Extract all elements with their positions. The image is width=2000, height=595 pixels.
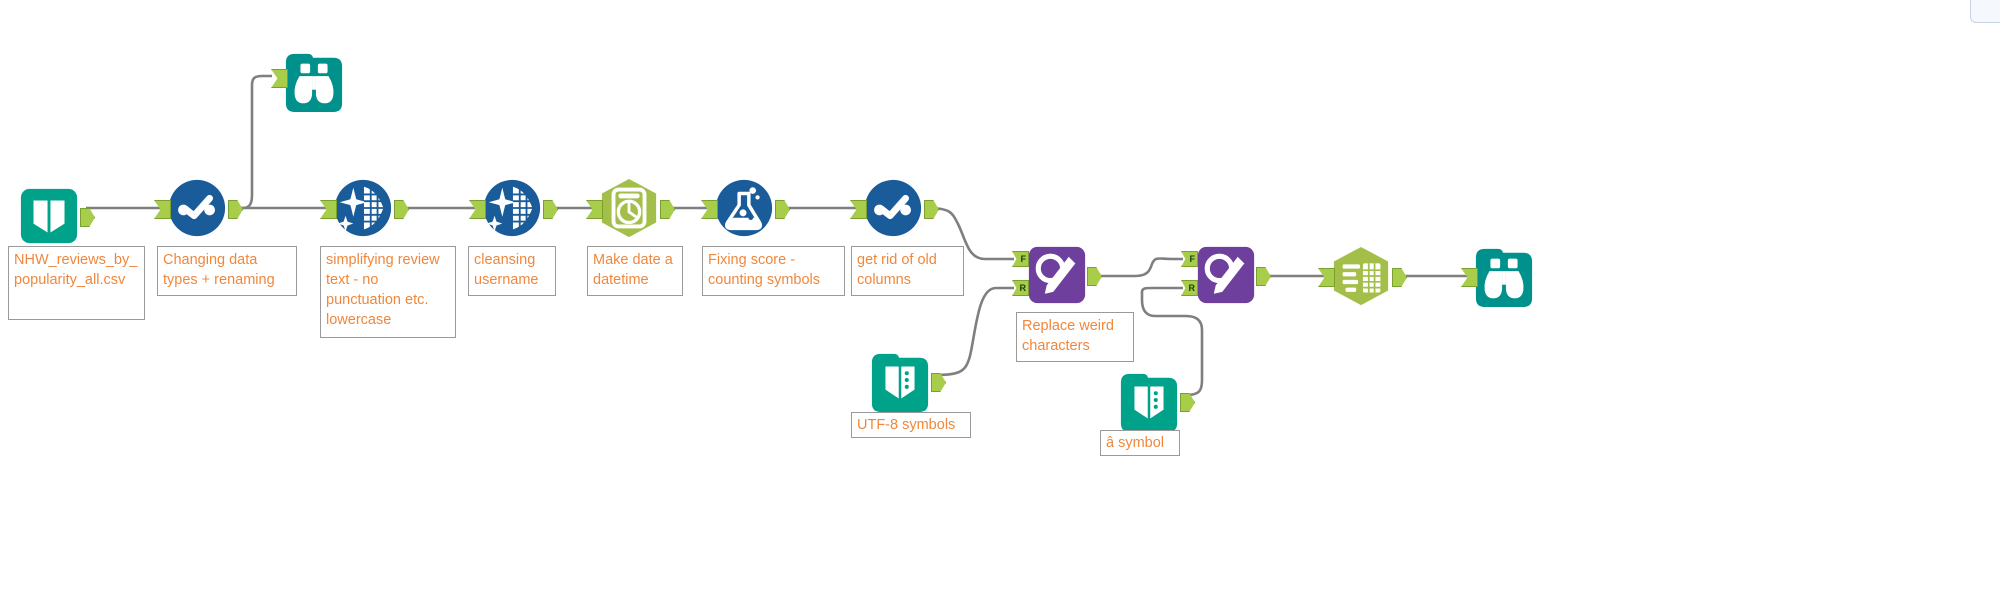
input-anchor[interactable] — [701, 200, 718, 219]
node-caption: Replace weird characters — [1016, 312, 1134, 362]
node-browse-top[interactable] — [283, 50, 345, 112]
node-select-records[interactable] — [1330, 245, 1392, 307]
workflow-canvas[interactable]: F R F R — [0, 0, 2000, 595]
output-anchor[interactable] — [228, 200, 243, 219]
input-anchor-find[interactable]: F — [1012, 251, 1029, 267]
input-anchor[interactable] — [1461, 268, 1478, 287]
output-anchor[interactable] — [775, 200, 790, 219]
output-anchor[interactable] — [660, 200, 675, 219]
input-anchor[interactable] — [1318, 268, 1335, 287]
node-caption: â symbol — [1100, 430, 1180, 456]
node-input-data[interactable] — [18, 185, 80, 247]
node-caption: Make date a datetime — [587, 246, 683, 296]
node-text-input-utf8[interactable] — [869, 350, 931, 412]
node-text-input-a-symbol[interactable] — [1118, 370, 1180, 432]
node-caption: Changing data types + renaming — [157, 246, 297, 296]
input-anchor[interactable] — [320, 200, 337, 219]
node-cleanse-review-text[interactable] — [332, 177, 394, 239]
binoculars-icon — [283, 50, 345, 112]
table-rows-icon — [1330, 245, 1392, 307]
check-dots-icon — [862, 177, 924, 239]
input-anchor[interactable] — [271, 69, 288, 88]
output-anchor[interactable] — [1392, 268, 1407, 287]
output-anchor[interactable] — [924, 200, 939, 219]
magnifier-pencil-icon — [1196, 245, 1256, 305]
input-anchor-find[interactable]: F — [1181, 251, 1198, 267]
clock-icon — [598, 177, 660, 239]
wire-select-to-browse-top — [231, 76, 272, 208]
magnifier-pencil-icon — [1027, 245, 1087, 305]
node-caption: cleansing username — [468, 246, 556, 296]
node-datetime[interactable] — [598, 177, 660, 239]
wire-utf8-to-findreplace1-r — [937, 288, 1014, 375]
output-anchor[interactable] — [1180, 393, 1195, 412]
check-dots-icon — [166, 177, 228, 239]
output-anchor[interactable] — [931, 373, 946, 392]
input-anchor[interactable] — [469, 200, 486, 219]
flask-icon — [713, 177, 775, 239]
node-caption: NHW_reviews_by_popularity_all.csv — [8, 246, 145, 320]
binoculars-icon — [1473, 245, 1535, 307]
node-select-changing-types[interactable] — [166, 177, 228, 239]
sparkle-grid-icon — [481, 177, 543, 239]
book-dots-icon — [1118, 370, 1180, 432]
open-book-icon — [18, 185, 80, 247]
book-dots-icon — [869, 350, 931, 412]
input-anchor-replace[interactable]: R — [1012, 280, 1029, 296]
output-anchor[interactable] — [1087, 267, 1102, 286]
output-anchor[interactable] — [543, 200, 558, 219]
node-browse-end[interactable] — [1473, 245, 1535, 307]
output-anchor[interactable] — [80, 208, 95, 227]
node-find-replace-2[interactable]: F R — [1196, 245, 1256, 305]
output-anchor[interactable] — [1256, 267, 1271, 286]
node-cleanse-username[interactable] — [481, 177, 543, 239]
node-select-get-rid[interactable] — [862, 177, 924, 239]
node-formula-fixing-score[interactable] — [713, 177, 775, 239]
node-find-replace-1[interactable]: F R — [1027, 245, 1087, 305]
wire-findreplace1-to-findreplace2-f — [1099, 258, 1183, 276]
node-caption: UTF-8 symbols — [851, 412, 971, 438]
node-caption: Fixing score - counting symbols — [702, 246, 845, 296]
window-corner — [1970, 0, 2000, 23]
node-caption: get rid of old columns — [851, 246, 964, 296]
node-caption: simplifying review text - no punctuation… — [320, 246, 456, 338]
input-anchor[interactable] — [154, 200, 171, 219]
input-anchor[interactable] — [586, 200, 603, 219]
input-anchor[interactable] — [850, 200, 867, 219]
sparkle-grid-icon — [332, 177, 394, 239]
output-anchor[interactable] — [394, 200, 409, 219]
input-anchor-replace[interactable]: R — [1181, 280, 1198, 296]
